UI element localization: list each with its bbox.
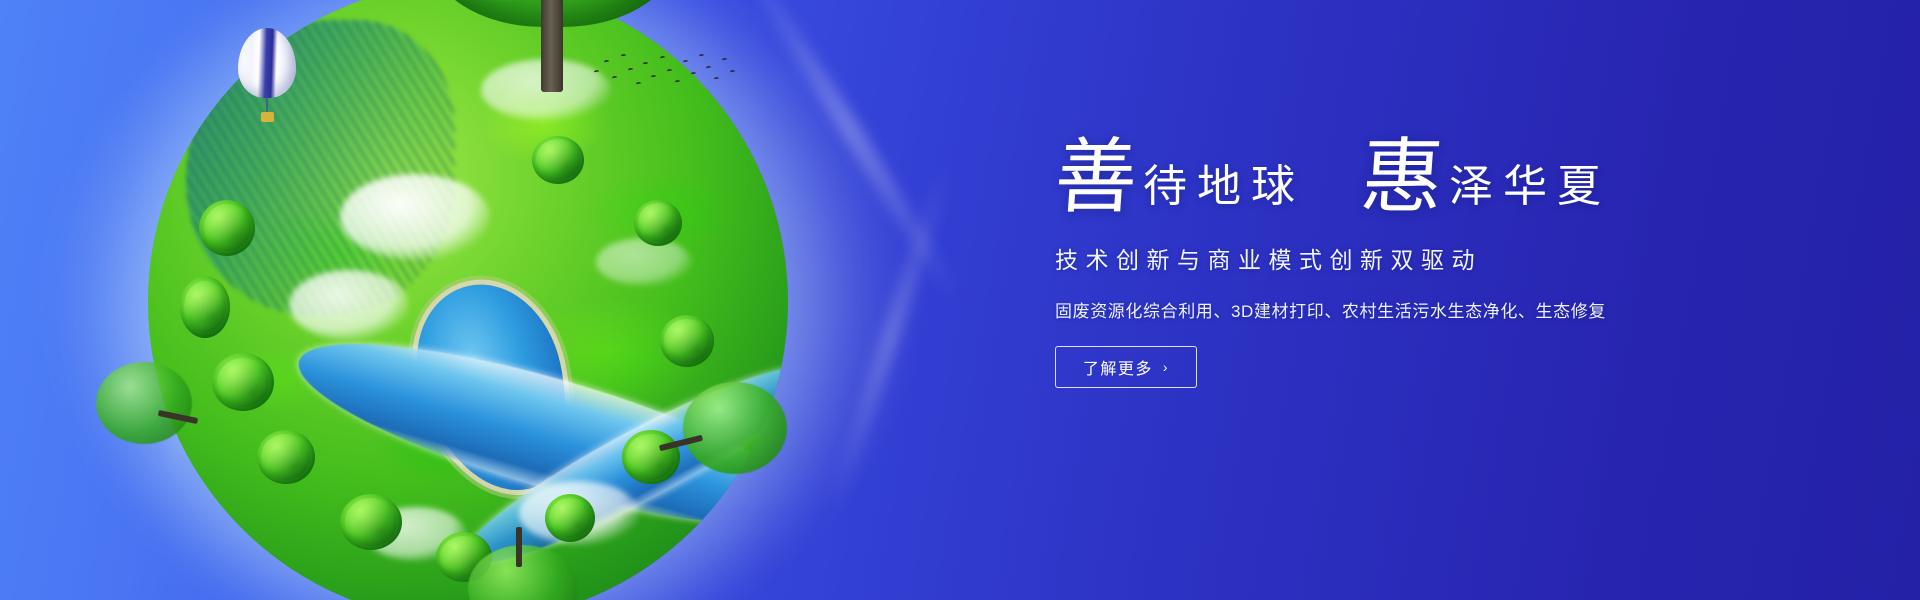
tree-bush <box>532 136 584 184</box>
balloon-envelope <box>238 28 296 98</box>
hot-air-balloon-icon <box>238 28 296 124</box>
page-title: 善 待地球 惠 泽华夏 <box>1055 140 1795 215</box>
cloud-wisp <box>824 155 957 521</box>
cloud-puff <box>289 270 409 340</box>
balloon-basket <box>261 112 274 122</box>
balloon-rope <box>266 94 268 114</box>
headline-text-1: 待地球 <box>1143 165 1305 215</box>
tree-bush <box>340 494 402 550</box>
tree-bush <box>180 276 230 338</box>
tree-bush <box>212 353 274 411</box>
hero-banner: 善 待地球 惠 泽华夏 技术创新与商业模式创新双驱动 固废资源化综合利用、3D建… <box>0 0 1920 600</box>
tree-bush <box>622 430 680 484</box>
tree-bush <box>634 200 682 246</box>
headline-text-2: 泽华夏 <box>1449 165 1611 215</box>
tree-bush <box>660 315 714 367</box>
tree-bush <box>545 494 595 542</box>
cloud-puff <box>596 238 692 286</box>
hero-copy: 善 待地球 惠 泽华夏 技术创新与商业模式创新双驱动 固废资源化综合利用、3D建… <box>1055 140 1795 388</box>
hero-subtitle: 技术创新与商业模式创新双驱动 <box>1055 241 1795 275</box>
bird-flock-icon <box>590 42 740 102</box>
cloud-puff <box>340 174 490 260</box>
learn-more-button[interactable]: 了解更多 › <box>1055 346 1197 388</box>
chevron-right-icon: › <box>1163 359 1169 375</box>
headline-char-2: 惠 <box>1358 140 1445 215</box>
hero-description: 固废资源化综合利用、3D建材打印、农村生活污水生态净化、生态修复 <box>1055 297 1795 322</box>
learn-more-label: 了解更多 <box>1083 355 1153 379</box>
tree-bush <box>199 200 255 256</box>
tree-bush <box>257 430 315 484</box>
headline-char-1: 善 <box>1052 140 1139 215</box>
